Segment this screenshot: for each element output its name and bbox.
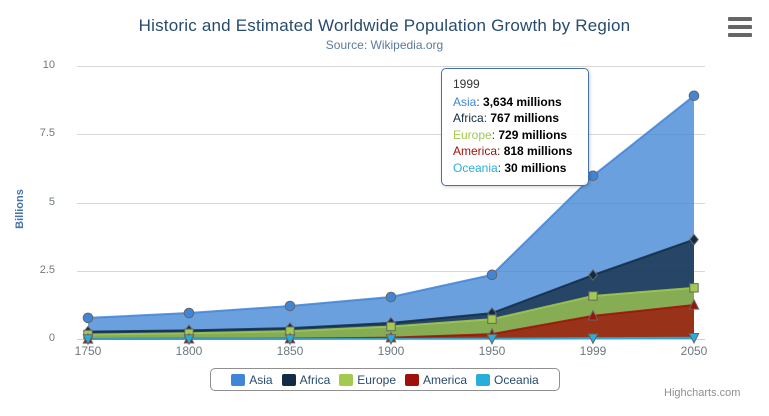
legend-item-africa[interactable]: Africa <box>282 373 331 387</box>
tooltip-series-name: Asia <box>453 95 476 109</box>
tooltip-series-value: 30 millions <box>504 161 566 175</box>
legend-swatch-icon <box>405 374 419 386</box>
x-axis-tick-label: 1800 <box>159 344 219 358</box>
data-point-asia[interactable] <box>487 270 497 280</box>
tooltip-series-name: America <box>453 144 497 158</box>
highcharts-container: Historic and Estimated Worldwide Populat… <box>0 0 769 416</box>
tooltip-series-value: 818 millions <box>504 144 573 158</box>
chart-title: Historic and Estimated Worldwide Populat… <box>0 16 769 36</box>
legend-item-oceania[interactable]: Oceania <box>476 373 539 387</box>
hamburger-bar-3 <box>728 33 752 37</box>
tooltip-series-value: 3,634 millions <box>483 95 562 109</box>
credits-link[interactable]: Highcharts.com <box>664 387 740 399</box>
tooltip-rows: Asia: 3,634 millionsAfrica: 767 millions… <box>453 94 579 177</box>
series-layer <box>77 66 705 339</box>
tooltip-row: Oceania: 30 millions <box>453 160 579 177</box>
tooltip-header: 1999 <box>453 76 579 93</box>
chart-subtitle: Source: Wikipedia.org <box>0 38 769 52</box>
y-axis-tick-label: 0 <box>15 332 55 344</box>
hamburger-bar-2 <box>728 25 752 29</box>
x-axis-tick-label: 1900 <box>361 344 421 358</box>
legend-label: America <box>423 373 467 387</box>
y-axis-tick-label: 7.5 <box>15 127 55 139</box>
legend-swatch-icon <box>231 374 245 386</box>
legend[interactable]: AsiaAfricaEuropeAmericaOceania <box>210 368 560 391</box>
tooltip-series-name: Europe <box>453 128 492 142</box>
legend-item-asia[interactable]: Asia <box>231 373 272 387</box>
legend-label: Africa <box>300 373 331 387</box>
x-axis-tick-label: 1850 <box>260 344 320 358</box>
data-point-europe[interactable] <box>488 315 496 323</box>
tooltip-series-value: 729 millions <box>498 128 567 142</box>
y-axis-tick-label: 10 <box>15 59 55 71</box>
tooltip-row: Africa: 767 millions <box>453 110 579 127</box>
legend-label: Oceania <box>494 373 539 387</box>
y-axis-tick-label: 5 <box>15 196 55 208</box>
legend-swatch-icon <box>339 374 353 386</box>
legend-item-europe[interactable]: Europe <box>339 373 396 387</box>
legend-swatch-icon <box>476 374 490 386</box>
data-point-asia[interactable] <box>588 171 598 181</box>
tooltip-series-value: 767 millions <box>490 111 559 125</box>
tooltip-series-name: Oceania <box>453 161 498 175</box>
data-point-asia[interactable] <box>285 301 295 311</box>
data-point-asia[interactable] <box>83 313 93 323</box>
data-point-asia[interactable] <box>184 308 194 318</box>
tooltip-series-name: Africa <box>453 111 484 125</box>
data-point-europe[interactable] <box>690 284 698 292</box>
data-point-asia[interactable] <box>689 91 699 101</box>
y-axis-tick-label: 2.5 <box>15 264 55 276</box>
legend-label: Asia <box>249 373 272 387</box>
hamburger-icon[interactable] <box>728 17 752 37</box>
data-point-europe[interactable] <box>589 292 597 300</box>
tooltip: 1999 Asia: 3,634 millionsAfrica: 767 mil… <box>441 68 589 186</box>
data-point-asia[interactable] <box>386 292 396 302</box>
data-point-europe[interactable] <box>387 322 395 330</box>
legend-swatch-icon <box>282 374 296 386</box>
x-axis-tick-label: 2050 <box>664 344 724 358</box>
hamburger-bar-1 <box>728 17 752 21</box>
x-axis-tick-label: 1750 <box>58 344 118 358</box>
x-axis-tick-label: 1950 <box>462 344 522 358</box>
x-axis-tick-label: 1999 <box>563 344 623 358</box>
tooltip-row: America: 818 millions <box>453 143 579 160</box>
tooltip-row: Europe: 729 millions <box>453 127 579 144</box>
plot-area <box>77 66 705 339</box>
tooltip-row: Asia: 3,634 millions <box>453 94 579 111</box>
legend-item-america[interactable]: America <box>405 373 467 387</box>
legend-label: Europe <box>357 373 396 387</box>
